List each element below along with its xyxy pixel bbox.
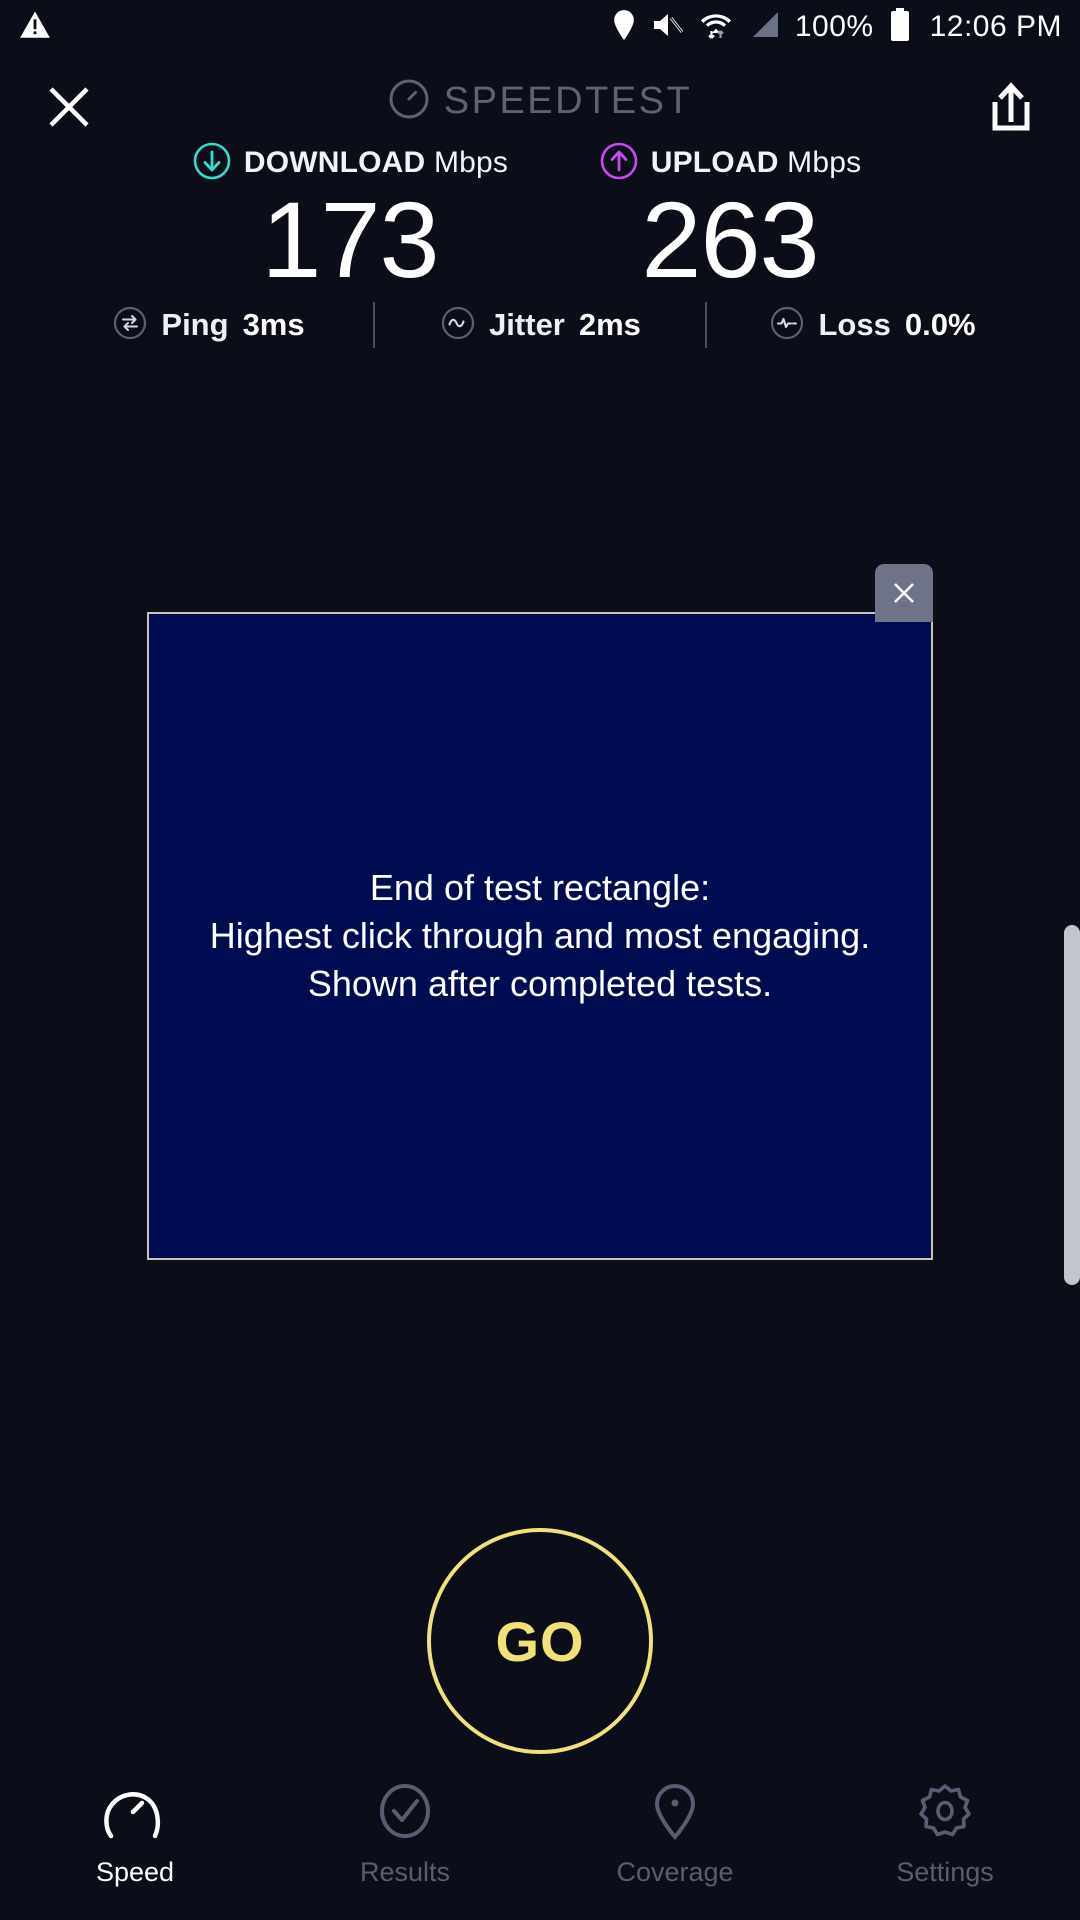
ping-label: Ping: [161, 307, 228, 343]
download-label: DOWNLOAD Mbps: [244, 146, 508, 180]
nav-item-speed[interactable]: Speed: [0, 1782, 270, 1888]
gear-icon: [912, 1782, 978, 1845]
download-arrow-icon: [192, 141, 232, 186]
loss-value: 0.0%: [905, 307, 976, 343]
jitter-metric: Jitter 2ms: [375, 304, 705, 347]
warning-triangle-icon: [18, 8, 52, 47]
nav-item-coverage[interactable]: Coverage: [540, 1782, 810, 1888]
check-circle-icon: [372, 1782, 438, 1845]
cellular-signal-icon: [747, 9, 781, 46]
battery-percent-label: 100%: [795, 10, 874, 44]
nav-item-results[interactable]: Results: [270, 1782, 540, 1888]
nav-item-settings[interactable]: Settings: [810, 1782, 1080, 1888]
share-button[interactable]: [980, 76, 1042, 138]
status-bar-left: [18, 8, 52, 47]
status-bar-right: 100% 12:06 PM: [611, 7, 1062, 48]
download-upload-row: DOWNLOAD Mbps 173 UPLOAD Mbps 263: [0, 140, 1080, 292]
status-bar: 100% 12:06 PM: [0, 0, 1080, 54]
brand: SPEEDTEST: [0, 78, 1080, 125]
ad-banner[interactable]: End of test rectangle: Highest click thr…: [147, 612, 933, 1260]
results-panel: DOWNLOAD Mbps 173 UPLOAD Mbps 263: [0, 140, 1080, 292]
speedometer-icon: [102, 1782, 168, 1845]
nav-label-speed: Speed: [96, 1857, 174, 1888]
location-pin-icon: [611, 9, 637, 46]
ping-metric: Ping 3ms: [43, 304, 373, 347]
go-button[interactable]: GO: [427, 1528, 653, 1754]
upload-label: UPLOAD Mbps: [651, 146, 862, 180]
ad-close-icon: [889, 578, 919, 608]
nav-label-coverage: Coverage: [616, 1857, 733, 1888]
nav-label-settings: Settings: [896, 1857, 994, 1888]
ad-line-1: End of test rectangle:: [210, 864, 870, 912]
upload-metric: UPLOAD Mbps 263: [540, 140, 920, 292]
loss-metric: Loss 0.0%: [707, 304, 1037, 347]
nav-label-results: Results: [360, 1857, 450, 1888]
download-value: 173: [160, 188, 540, 292]
volume-muted-icon: [651, 10, 685, 45]
wifi-transfer-icon: [699, 8, 733, 47]
ad-close-button[interactable]: [875, 564, 933, 622]
scrollbar-thumb[interactable]: [1064, 925, 1080, 1285]
location-pin-icon: [642, 1782, 708, 1845]
ad-text: End of test rectangle: Highest click thr…: [192, 864, 888, 1008]
share-upload-icon: [980, 76, 1042, 138]
ad-line-2: Highest click through and most engaging.: [210, 912, 870, 960]
upload-value: 263: [540, 188, 920, 292]
loss-label: Loss: [818, 307, 890, 343]
battery-full-icon: [888, 7, 912, 48]
jitter-icon: [439, 304, 477, 347]
connection-metrics-row: Ping 3ms Jitter 2ms Loss 0.0%: [0, 290, 1080, 360]
clock-label: 12:06 PM: [930, 10, 1062, 44]
jitter-value: 2ms: [579, 307, 641, 343]
ping-value: 3ms: [243, 307, 305, 343]
advertisement: End of test rectangle: Highest click thr…: [147, 612, 933, 1260]
upload-arrow-icon: [599, 141, 639, 186]
ping-icon: [111, 304, 149, 347]
download-metric: DOWNLOAD Mbps 173: [160, 140, 540, 292]
ad-line-3: Shown after completed tests.: [210, 960, 870, 1008]
bottom-navigation: Speed Results Coverage Settings: [0, 1772, 1080, 1920]
jitter-label: Jitter: [489, 307, 565, 343]
brand-title: SPEEDTEST: [444, 80, 692, 123]
go-button-label: GO: [495, 1609, 584, 1674]
speedometer-icon: [388, 78, 430, 125]
loss-icon: [768, 304, 806, 347]
